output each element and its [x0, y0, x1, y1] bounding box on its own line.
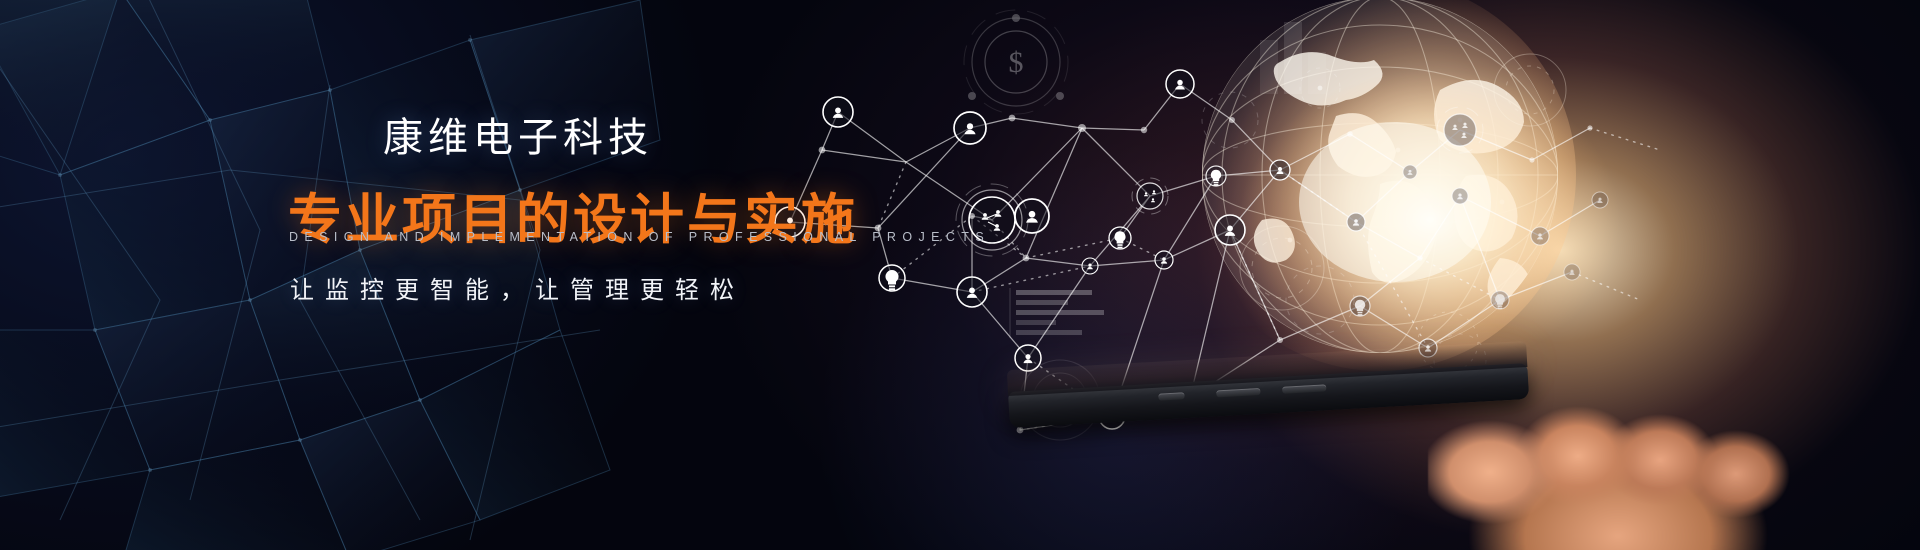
network-node-person: [1270, 160, 1290, 180]
network-node-person: [1564, 264, 1580, 280]
network-node-person: [1347, 213, 1365, 231]
network-node-person: [1403, 165, 1417, 179]
network-node-person: [1155, 251, 1173, 269]
network-node-lightbulb: [879, 265, 905, 291]
svg-text:$: $: [1054, 387, 1067, 416]
network-node-person: [1419, 339, 1437, 357]
globe-graphic: [1130, 0, 1670, 420]
network-node-person: [1082, 258, 1098, 274]
network-node-person: [1099, 403, 1125, 429]
phone-button: [1158, 392, 1184, 400]
network-node-group: [956, 184, 1028, 256]
brand-name: 康维电子科技: [383, 105, 653, 163]
hero-banner: $ $: [0, 0, 1920, 550]
svg-text:$: $: [1009, 46, 1024, 79]
network-node-lightbulb: [1206, 166, 1226, 186]
network-node-dollar: $: [964, 10, 1068, 114]
network-node-bar-chart: [1260, 22, 1326, 94]
network-node-person: [1531, 227, 1549, 245]
network-graphic: $ $: [760, 0, 1920, 550]
network-node-lightbulb: [1350, 296, 1370, 316]
network-node-bar-chart: [1010, 288, 1104, 338]
tagline: 让监控更智能，让管理更轻松: [290, 270, 745, 305]
network-node-person: [1452, 188, 1468, 204]
network-node-group: [1437, 107, 1483, 153]
network-node-lightbulb: [1491, 291, 1509, 309]
network-node-group: [1132, 178, 1168, 214]
network-node-person: [1215, 215, 1245, 245]
network-node-person: [1015, 345, 1041, 371]
network-node-person: [1166, 70, 1194, 98]
phone-button: [1216, 388, 1260, 397]
smartphone: [1008, 363, 1529, 428]
network-node-dollar: $: [1020, 360, 1100, 440]
network-node-lightbulb: [1177, 385, 1203, 411]
banner-copy: 康维电子科技 专业项目的设计与实施 DESIGN AND IMPLEMENTAT…: [0, 0, 820, 550]
network-node-person: [823, 97, 853, 127]
network-node-person: [1015, 199, 1049, 233]
subtitle-english: DESIGN AND IMPLEMENTATION OF PROFESSIONA…: [289, 230, 990, 244]
network-node-person: [1592, 192, 1608, 208]
network-node-lightbulb: [1109, 227, 1131, 249]
hand: [1428, 386, 1920, 550]
network-node-person: [957, 277, 987, 307]
smartphone-in-hand: [1010, 368, 1570, 448]
network-node-person: [954, 112, 986, 144]
phone-button: [1282, 384, 1326, 393]
